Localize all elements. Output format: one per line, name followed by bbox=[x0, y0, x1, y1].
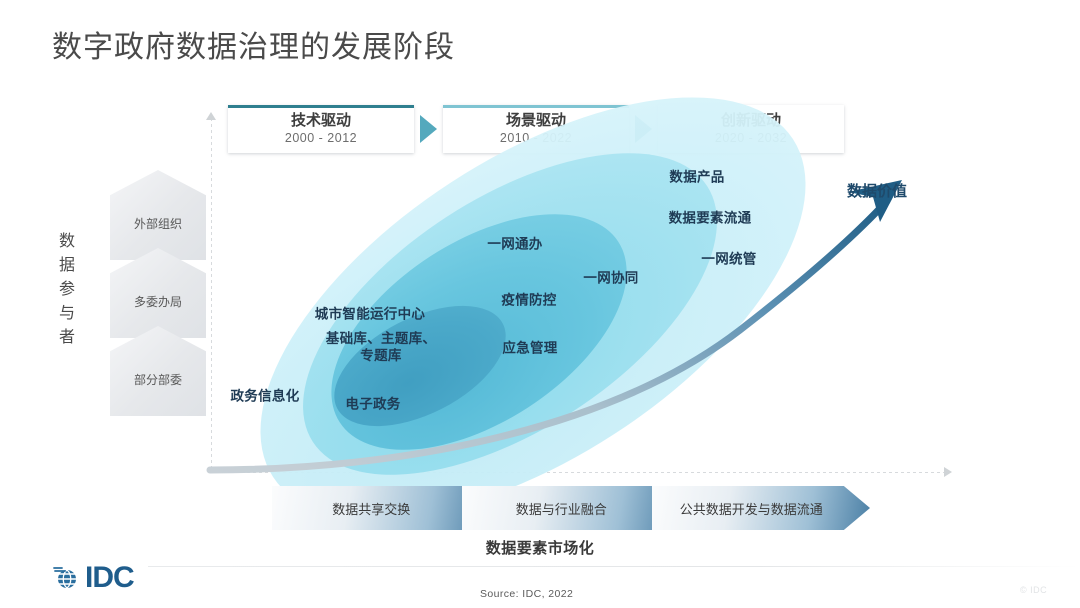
phase-box-0[interactable]: 技术驱动 2000 - 2012 bbox=[228, 105, 414, 153]
ellipse-item-4: 一网通办 bbox=[487, 236, 542, 253]
idc-logo-text: IDC bbox=[85, 563, 134, 593]
ellipse-item-5: 疫情防控 bbox=[501, 292, 556, 309]
ellipse-item-8: 一网统管 bbox=[701, 251, 756, 268]
page-title: 数字政府数据治理的发展阶段 bbox=[52, 22, 455, 66]
bottom-flow-label-0: 数据共享交换 bbox=[332, 499, 430, 518]
bottom-flow-label-1: 数据与行业融合 bbox=[516, 499, 627, 518]
participant-chevron-2: 部分部委 bbox=[110, 326, 206, 416]
slide-root: 数字政府数据治理的发展阶段 技术驱动 2000 - 2012 场景驱动 2010… bbox=[0, 0, 1080, 608]
x-axis-arrow-icon bbox=[944, 467, 952, 477]
phase-pointer-icon-0 bbox=[420, 115, 437, 143]
copyright-watermark: © IDC bbox=[1020, 585, 1047, 595]
phase-name-0: 技术驱动 bbox=[291, 112, 351, 130]
footer-divider bbox=[0, 566, 1080, 567]
y-axis-arrow-icon bbox=[206, 112, 216, 120]
participant-label-1: 多委办局 bbox=[134, 277, 182, 310]
phase-accent-bar-1 bbox=[443, 105, 629, 108]
ellipse-item-9: 数据要素流通 bbox=[669, 210, 752, 227]
ellipse-item-2: 基础库、主题库、专题库 bbox=[326, 330, 436, 364]
bottom-flow-label-2: 公共数据开发与数据流通 bbox=[680, 499, 843, 518]
participant-chevron-1: 多委办局 bbox=[110, 248, 206, 338]
phase-years-0: 2000 - 2012 bbox=[285, 130, 357, 146]
ellipse-item-10: 数据产品 bbox=[669, 169, 724, 186]
ellipse-item-7: 一网协同 bbox=[583, 270, 638, 287]
ellipse-item-0: 政务信息化 bbox=[231, 388, 300, 405]
participant-chevron-0: 外部组织 bbox=[110, 170, 206, 260]
ellipse-item-3: 城市智能运行中心 bbox=[315, 306, 425, 323]
globe-icon bbox=[52, 563, 82, 593]
ellipse-item-6: 应急管理 bbox=[502, 340, 557, 357]
bottom-flow-caption: 数据要素市场化 bbox=[0, 537, 1080, 558]
source-note: Source: IDC, 2022 bbox=[480, 588, 573, 600]
bottom-flow-chevron-1[interactable]: 数据与行业融合 bbox=[462, 486, 680, 530]
participant-label-2: 部分部委 bbox=[134, 355, 182, 388]
growth-arrow-label: 数据价值 bbox=[847, 180, 907, 201]
phase-accent-bar-0 bbox=[228, 105, 414, 108]
bottom-flow-chevron-0[interactable]: 数据共享交换 bbox=[272, 486, 490, 530]
y-axis-label: 数据参与者 bbox=[55, 230, 79, 350]
participant-label-0: 外部组织 bbox=[134, 199, 182, 232]
idc-logo: IDC bbox=[52, 563, 142, 593]
bottom-flow-chevron-2[interactable]: 公共数据开发与数据流通 bbox=[652, 486, 870, 530]
ellipse-item-1: 电子政务 bbox=[345, 396, 400, 413]
